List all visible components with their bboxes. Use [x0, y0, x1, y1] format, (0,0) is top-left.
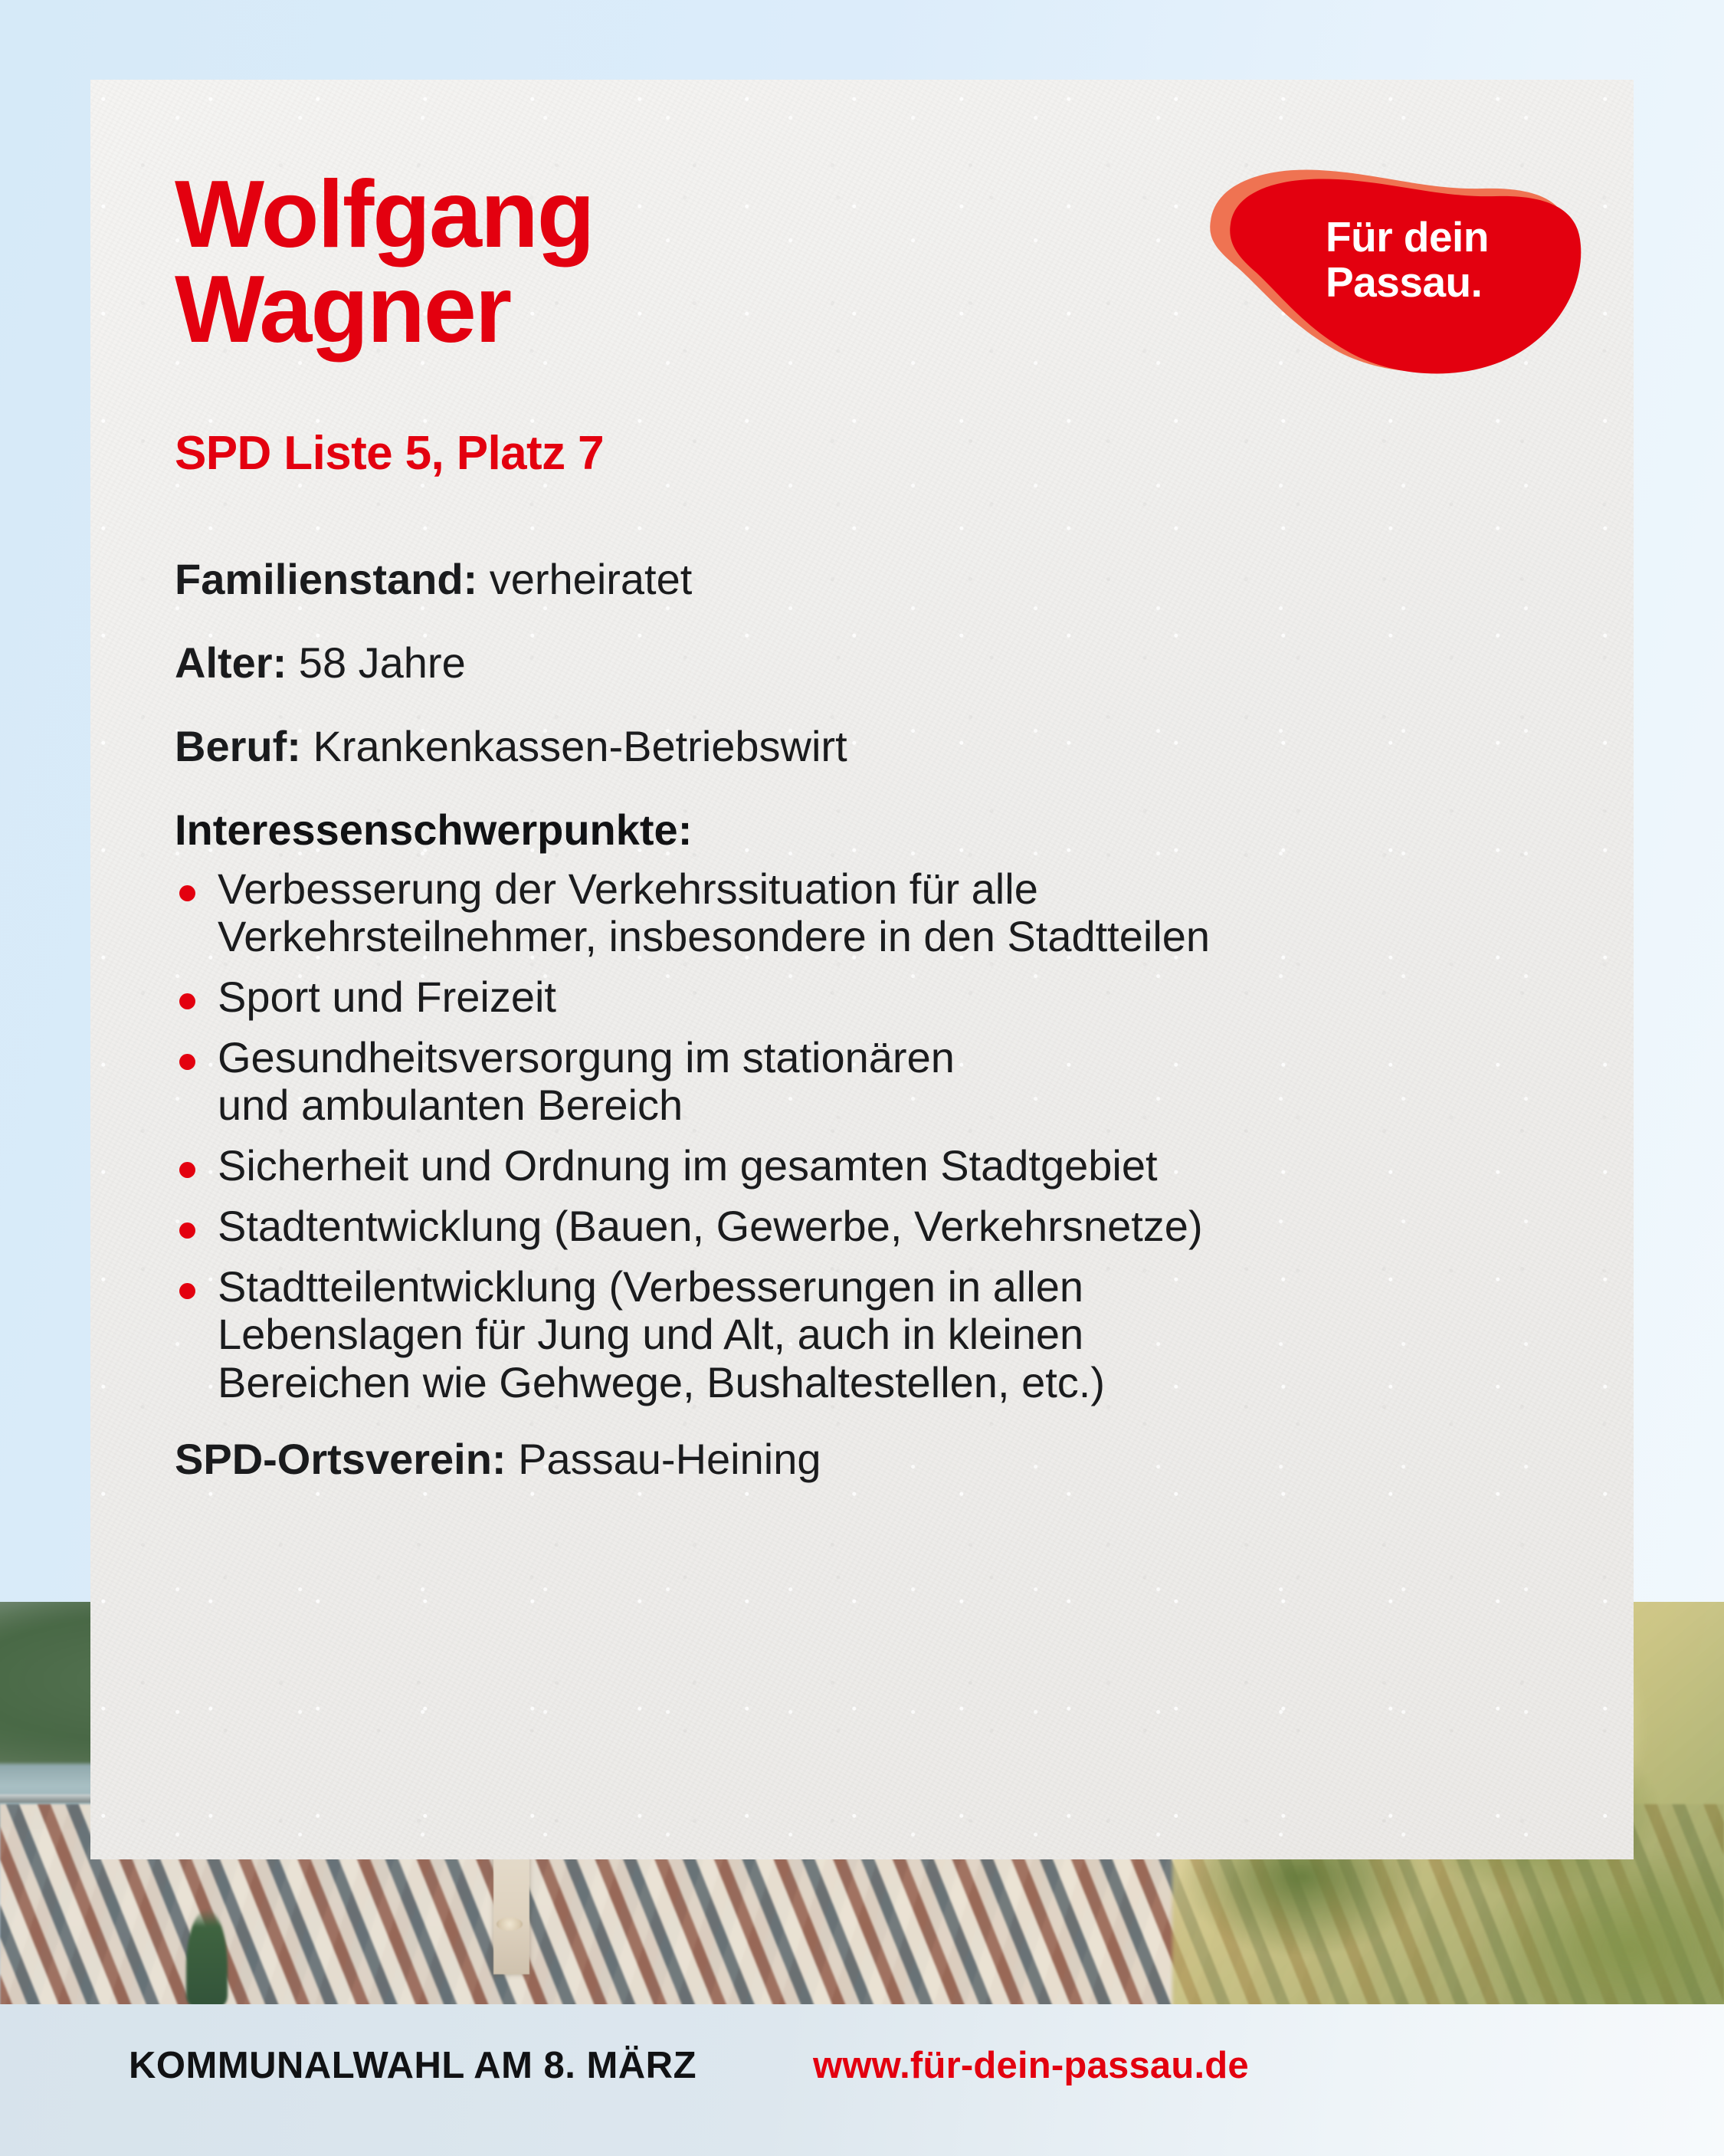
info-row-familienstand: Familienstand: verheiratet [175, 553, 1546, 605]
info-value-alter: 58 Jahre [299, 638, 466, 687]
info-row-beruf: Beruf: Krankenkassen-Betriebswirt [175, 720, 1546, 772]
logo-line-1: Für dein [1326, 215, 1489, 260]
campaign-website-link[interactable]: www.für-dein-passau.de [813, 2044, 1249, 2087]
list-item-line-1: Stadtteilentwicklung (Verbesserungen in … [218, 1262, 1083, 1311]
fuer-dein-passau-logo: Für dein Passau. [1197, 150, 1588, 380]
list-item-line-1: Sport und Freizeit [218, 973, 556, 1021]
bullet-dot-icon [179, 1054, 195, 1070]
list-item: Stadtteilentwicklung (Verbesserungen in … [175, 1263, 1546, 1407]
info-row-ortsverein: SPD-Ortsverein: Passau-Heining [175, 1433, 1546, 1485]
election-date-text: KOMMUNALWAHL AM 8. MÄRZ [129, 2044, 696, 2087]
info-value-beruf: Krankenkassen-Betriebswirt [313, 722, 847, 770]
list-item-line-3: Bereichen wie Gehwege, Bushaltestellen, … [218, 1359, 1546, 1407]
candidate-last-name: Wagner [175, 262, 593, 357]
info-value-familienstand: verheiratet [490, 555, 693, 603]
interests-heading: Interessenschwerpunkte: [175, 805, 1546, 855]
logo-text: Für dein Passau. [1326, 215, 1489, 306]
info-label-ortsverein: SPD-Ortsverein: [175, 1435, 506, 1483]
footer-bar: KOMMUNALWAHL AM 8. MÄRZ www.für-dein-pas… [0, 2004, 1724, 2156]
info-row-alter: Alter: 58 Jahre [175, 637, 1546, 688]
list-item-line-1: Gesundheitsversorgung im stationären [218, 1033, 955, 1081]
info-label-alter: Alter: [175, 638, 287, 687]
list-item: Gesundheitsversorgung im stationären und… [175, 1034, 1546, 1130]
list-item-line-1: Sicherheit und Ordnung im gesamten Stadt… [218, 1141, 1158, 1190]
info-value-ortsverein: Passau-Heining [518, 1435, 821, 1483]
list-item-line-2: Verkehrsteilnehmer, insbesondere in den … [218, 913, 1546, 961]
candidate-info-block: Familienstand: verheiratet Alter: 58 Jah… [175, 553, 1546, 1485]
list-item-line-2: und ambulanten Bereich [218, 1081, 1546, 1130]
bullet-dot-icon [179, 1222, 195, 1239]
page-title: Wolfgang Wagner [175, 167, 593, 357]
list-item: Sport und Freizeit [175, 973, 1546, 1022]
list-item-line-2: Lebenslagen für Jung und Alt, auch in kl… [218, 1311, 1546, 1359]
list-position-subtitle: SPD Liste 5, Platz 7 [175, 426, 604, 481]
candidate-first-name: Wolfgang [175, 167, 593, 262]
bullet-dot-icon [179, 885, 195, 901]
info-label-familienstand: Familienstand: [175, 555, 477, 603]
campaign-poster: Wolfgang Wagner SPD Liste 5, Platz 7 Für… [0, 0, 1724, 2156]
bullet-dot-icon [179, 1162, 195, 1178]
list-item: Sicherheit und Ordnung im gesamten Stadt… [175, 1142, 1546, 1190]
list-item-line-1: Verbesserung der Verkehrssituation für a… [218, 865, 1038, 913]
info-label-beruf: Beruf: [175, 722, 301, 770]
logo-line-2: Passau. [1326, 260, 1489, 305]
list-item-line-1: Stadtentwicklung (Bauen, Gewerbe, Verkeh… [218, 1202, 1203, 1250]
list-item: Stadtentwicklung (Bauen, Gewerbe, Verkeh… [175, 1203, 1546, 1251]
footer-content: KOMMUNALWAHL AM 8. MÄRZ www.für-dein-pas… [0, 2044, 1724, 2087]
bullet-dot-icon [179, 1283, 195, 1299]
list-item: Verbesserung der Verkehrssituation für a… [175, 865, 1546, 961]
bullet-dot-icon [179, 993, 195, 1009]
photo-clock-face [497, 1918, 523, 1931]
interests-list: Verbesserung der Verkehrssituation für a… [175, 865, 1546, 1407]
